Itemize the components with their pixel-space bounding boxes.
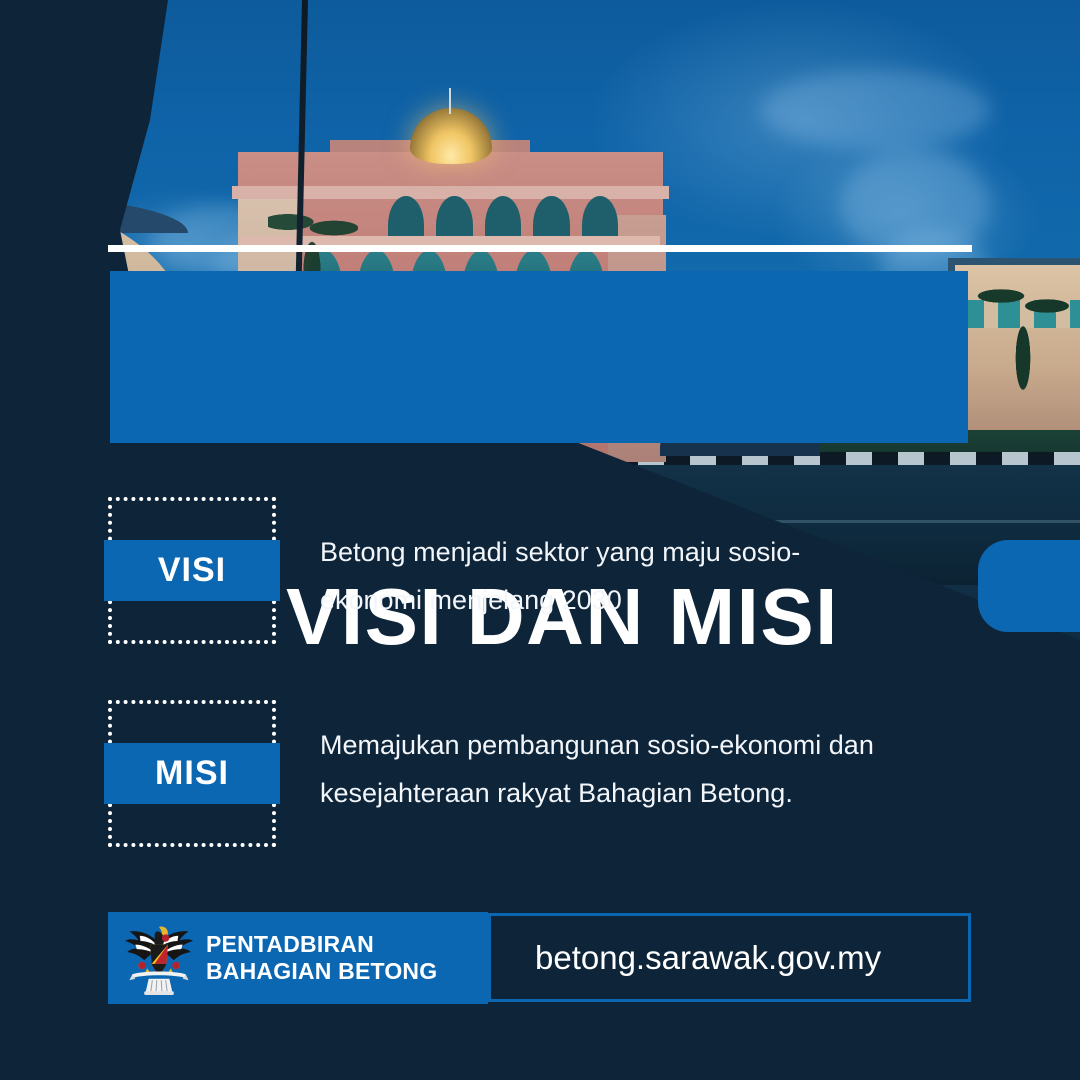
dome-spire (449, 88, 451, 114)
footer-brand-block: PENTADBIRAN BAHAGIAN BETONG (108, 912, 488, 1004)
title-rule (108, 245, 972, 252)
blue-accent-shape (978, 540, 1080, 632)
sarawak-coat-of-arms-icon (122, 918, 196, 998)
visi-badge: VISI (104, 540, 280, 601)
website-box[interactable]: betong.sarawak.gov.my (488, 913, 971, 1002)
footer-brand-name: PENTADBIRAN BAHAGIAN BETONG (206, 931, 437, 985)
palm-tree (975, 280, 1080, 430)
poster-canvas: BLOK A VISI DAN MISI VISI Betong menjadi… (0, 0, 1080, 1080)
building-upper-arches (388, 196, 618, 238)
footer-bar: PENTADBIRAN BAHAGIAN BETONG betong.saraw… (108, 912, 972, 1004)
cloud-shape (760, 70, 990, 150)
footer-brand-line2: BAHAGIAN BETONG (206, 958, 437, 985)
website-url[interactable]: betong.sarawak.gov.my (535, 939, 881, 977)
visi-badge-label: VISI (158, 551, 226, 590)
footer-brand-line1: PENTADBIRAN (206, 931, 437, 958)
misi-badge: MISI (104, 743, 280, 804)
title-banner: VISI DAN MISI (110, 271, 968, 443)
misi-badge-label: MISI (155, 754, 229, 793)
visi-statement: Betong menjadi sektor yang maju sosio-ek… (320, 528, 880, 624)
misi-statement: Memajukan pembangunan sosio-ekonomi dan … (320, 721, 880, 817)
